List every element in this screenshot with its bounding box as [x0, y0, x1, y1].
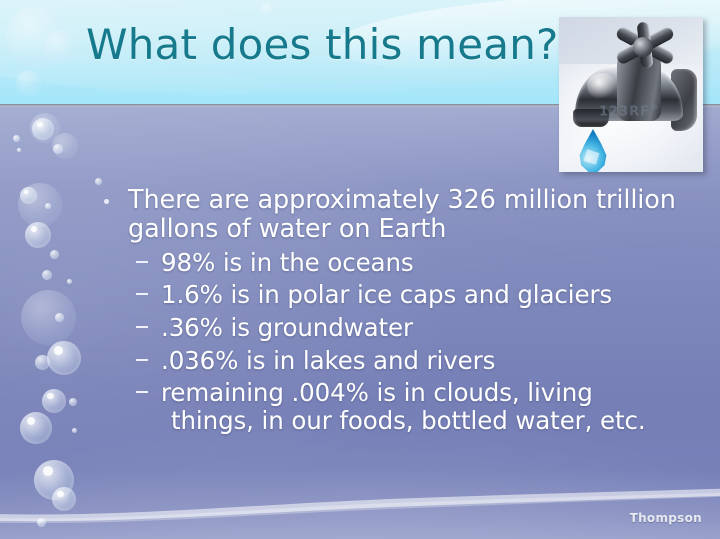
bubble-icon — [44, 30, 78, 64]
bullet-item-sub: remaining .004% is in clouds, living thi… — [128, 379, 676, 434]
slide-body-content: There are approximately 326 million tril… — [96, 186, 676, 435]
bottom-wave-decoration — [0, 483, 720, 523]
author-signature: Thompson — [630, 511, 702, 525]
bubble-icon — [16, 70, 42, 96]
watermark-text: 123RF — [599, 104, 650, 119]
bullet-text-continuation: things, in our foods, bottled water, etc… — [161, 407, 676, 435]
bullet-item-sub: 98% is in the oceans — [128, 249, 676, 277]
bullet-text: There are approximately 326 million tril… — [128, 186, 676, 244]
bullet-dot-icon — [104, 199, 109, 204]
faucet-handle-hub — [633, 37, 653, 57]
bubble-icon — [260, 2, 276, 18]
bullet-item-main: There are approximately 326 million tril… — [96, 186, 676, 435]
bullet-text: .36% is groundwater — [161, 314, 676, 342]
bullet-list-level-1: There are approximately 326 million tril… — [96, 186, 676, 435]
bullet-list-level-2: 98% is in the oceans 1.6% is in polar ic… — [128, 249, 676, 435]
image-watermark: 123RF® — [599, 103, 659, 119]
bullet-dash-icon — [136, 261, 148, 263]
water-droplet-icon — [577, 129, 609, 172]
faucet-water-drop-image: 123RF® — [559, 17, 703, 172]
bullet-text: 98% is in the oceans — [161, 249, 676, 277]
bullet-dash-icon — [136, 391, 148, 393]
bullet-item-sub: .36% is groundwater — [128, 314, 676, 342]
bullet-dash-icon — [136, 293, 148, 295]
watermark-superscript: ® — [650, 103, 659, 112]
bullet-text: remaining .004% is in clouds, living — [161, 379, 676, 407]
bullet-dash-icon — [136, 359, 148, 361]
slide-title: What does this mean? — [86, 20, 559, 69]
bullet-text: 1.6% is in polar ice caps and glaciers — [161, 281, 676, 309]
bullet-dash-icon — [136, 326, 148, 328]
presentation-slide: Thompson What does this mean? 123RF® — [0, 0, 720, 539]
bullet-item-sub: .036% is in lakes and rivers — [128, 347, 676, 375]
bullet-item-sub: 1.6% is in polar ice caps and glaciers — [128, 281, 676, 309]
bullet-text: .036% is in lakes and rivers — [161, 347, 676, 375]
